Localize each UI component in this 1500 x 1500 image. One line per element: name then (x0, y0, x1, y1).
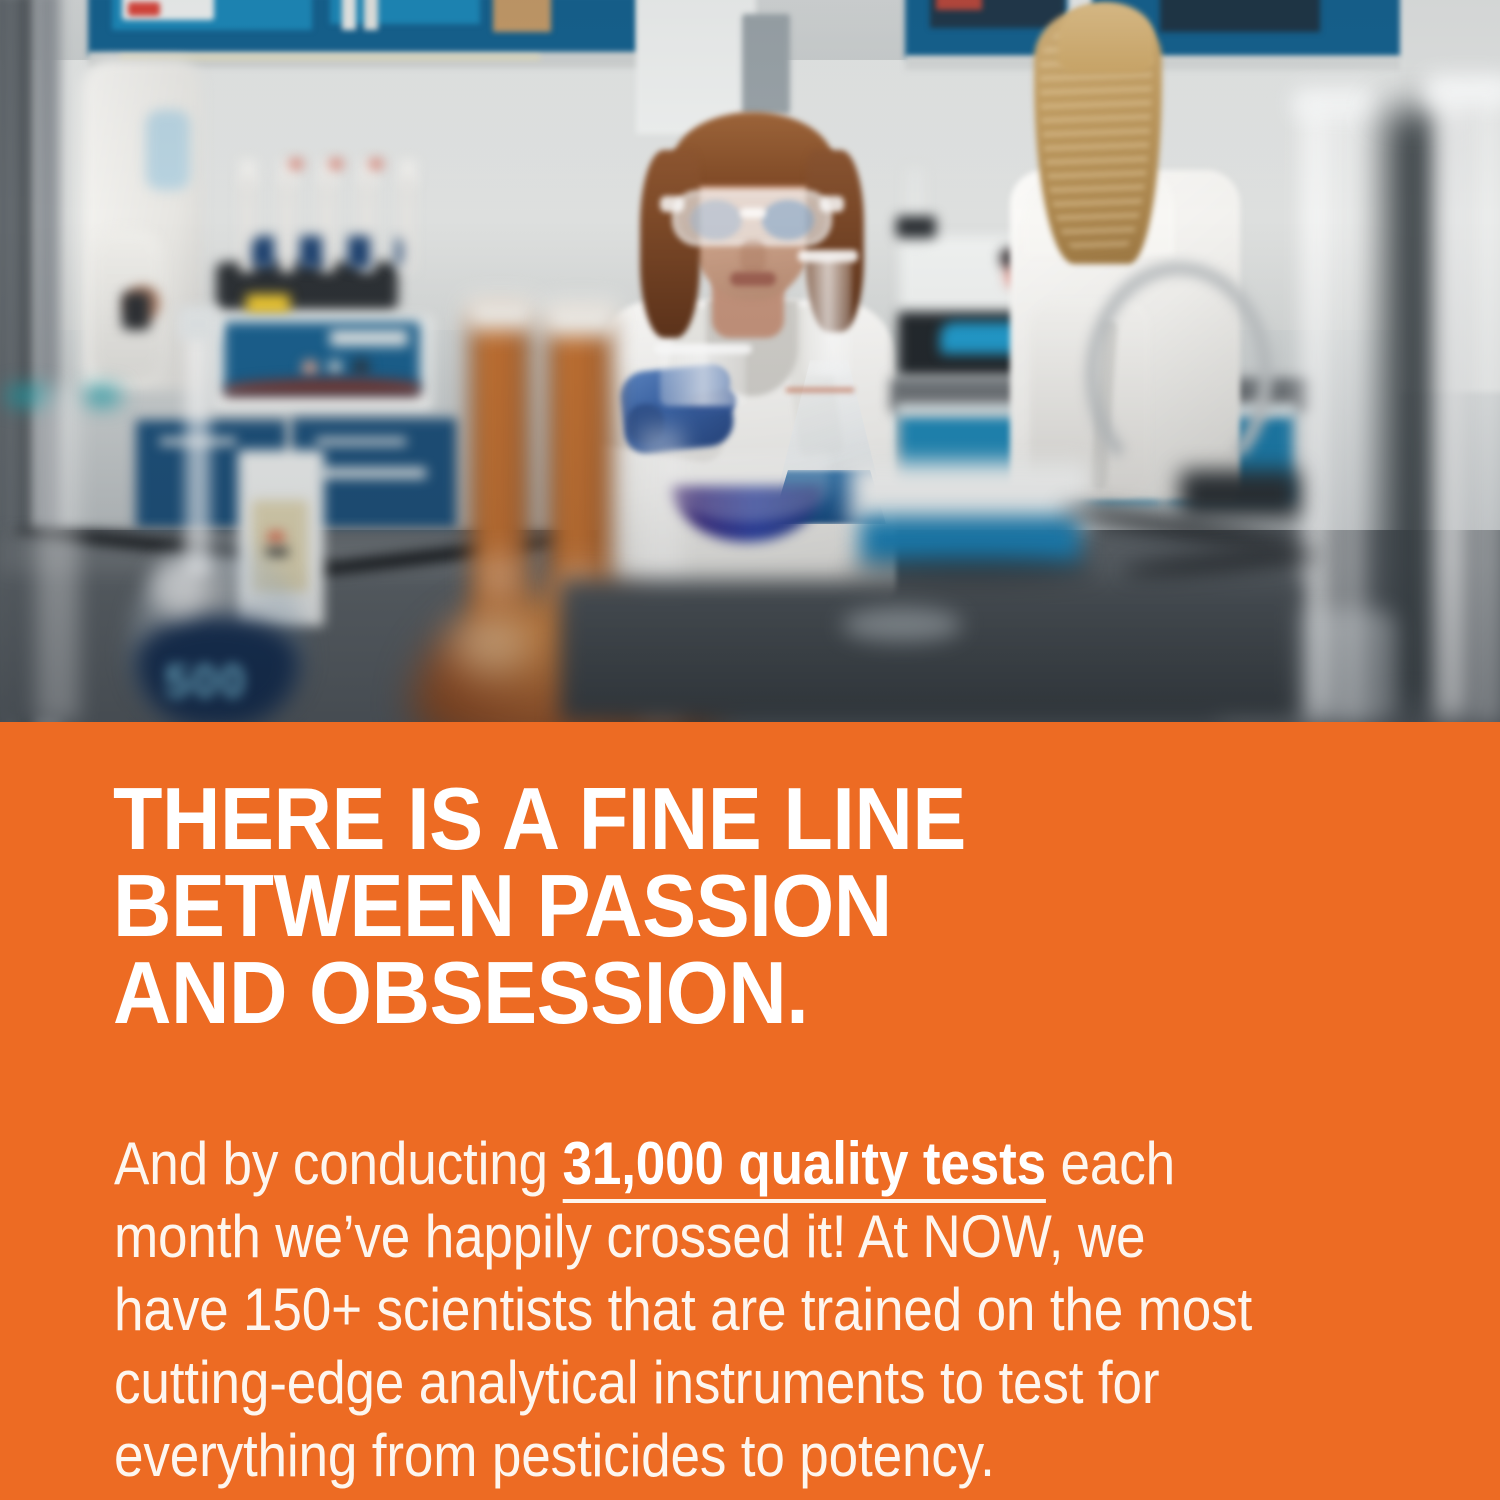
headline-line-3: AND OBSESSION. (113, 949, 1327, 1036)
bench-front-dark (560, 580, 1300, 722)
orange-message-panel: THERE IS A FINE LINE BETWEEN PASSION AND… (0, 722, 1500, 1500)
cabinet-red-label (128, 2, 160, 16)
headline-line-1: THERE IS A FINE LINE (113, 775, 1327, 862)
headline: THERE IS A FINE LINE BETWEEN PASSION AND… (113, 775, 1327, 1036)
teal-cap-2 (84, 388, 120, 404)
cabinet-item-red-r1 (936, 0, 982, 10)
flask-500-neck (182, 316, 214, 576)
erlenmeyer-neck (804, 256, 852, 376)
scientist-center-mouth (730, 272, 776, 286)
vial-caps-red (290, 160, 410, 168)
erlenmeyer-rim (798, 250, 858, 262)
stat-quality-tests: 31,000 quality tests (562, 1130, 1045, 1203)
dark-object-front-right (1180, 470, 1300, 518)
analyzer-knob-dark (352, 358, 370, 376)
wall-panel-grey (742, 14, 790, 114)
goggle-lens-left (690, 200, 742, 240)
flask-500-stopper (178, 306, 218, 340)
analyzer-curve (224, 378, 420, 396)
pipette-left-fg (36, 386, 80, 722)
cabinet-bottle-b (364, 0, 378, 30)
cylinder-2-highlight (1442, 90, 1462, 714)
vial-blue-liquid (252, 236, 402, 268)
beaker-rim (654, 344, 752, 354)
amber-flask-graduation-ring (478, 566, 522, 586)
goggle-bridge (740, 208, 766, 218)
petri-dish-front (842, 608, 962, 642)
instrument-clamp-right (896, 216, 936, 238)
graduated-cylinder-2 (1428, 84, 1500, 722)
analyzer-knob-grey (328, 360, 342, 374)
beaker-held (660, 346, 746, 406)
cabinet-glass-right2 (1160, 0, 1320, 32)
cabinet-bottle-a (342, 0, 356, 30)
goggle-strap-right (820, 196, 844, 212)
scientist-center-nose (740, 240, 766, 274)
amber-flask-neck-1 (470, 310, 530, 640)
scientist-left-device (122, 292, 150, 330)
cylinder-2-cap (1424, 74, 1500, 106)
undercab-handle-2 (316, 438, 406, 445)
balance-shadow (846, 556, 1096, 582)
instrument-yellow-label (246, 294, 290, 316)
outlet-led-red (268, 532, 284, 542)
amber-flask-stopper-1 (464, 296, 538, 330)
amber-flask-highlight (452, 614, 530, 674)
headline-line-2: BETWEEN PASSION (113, 862, 1327, 949)
laboratory-photo: 500 (0, 0, 1500, 722)
outlet-slot (266, 548, 288, 556)
scientist-left-collar-blue (146, 110, 190, 190)
cylinder-1-cap (1292, 88, 1378, 118)
hose-loop (1086, 262, 1272, 488)
flask-500-highlight (152, 560, 206, 616)
goggle-strap-left (660, 196, 684, 212)
cable-front-right-2 (1120, 547, 1320, 578)
body-copy: And by conducting 31,000 quality tests e… (114, 1127, 1256, 1492)
body-segment-lead: And by conducting (114, 1130, 562, 1197)
flask-purple-glass (664, 452, 830, 522)
amber-flask-stopper-2 (542, 300, 620, 336)
marketing-infographic: 500 (0, 0, 1500, 1500)
erlenmeyer-graduation (786, 388, 854, 392)
scientist-right-head-top (1058, 2, 1154, 72)
undercab-handle-3 (316, 468, 426, 478)
flask-500-graduation-label: 500 (148, 658, 264, 704)
analyzer-knob-red (302, 360, 318, 376)
goggle-lens-right (762, 200, 814, 240)
analyzer-display (330, 330, 408, 346)
cabinet-light-strip (120, 55, 540, 60)
cabinet-box-kraft (493, 0, 551, 32)
